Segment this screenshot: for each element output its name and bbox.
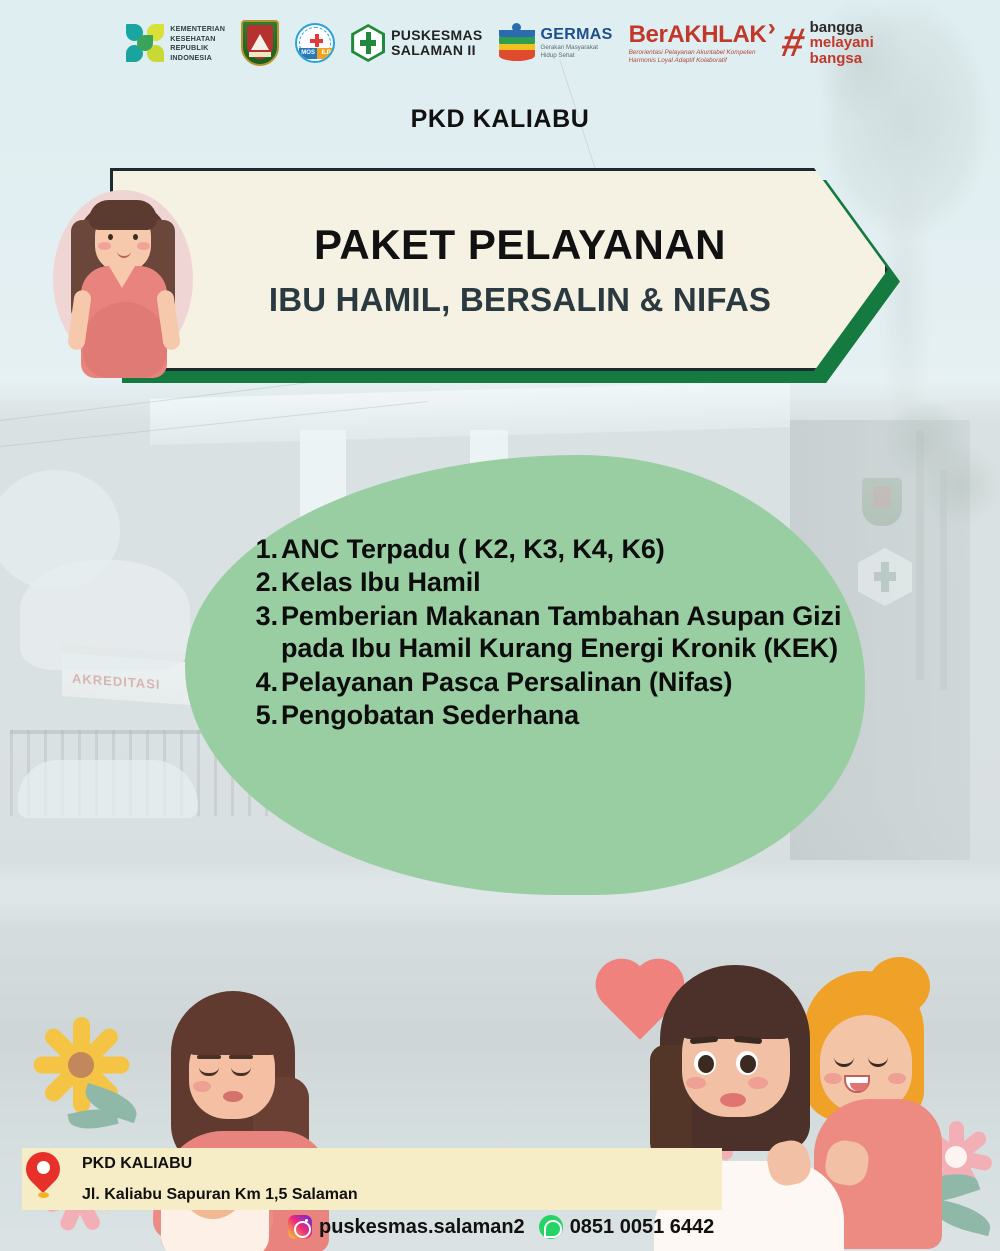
mos-badge: MOS bbox=[299, 48, 317, 59]
berakhlak-sub-2: Harmonis Loyal Adaptif Kolaboratif bbox=[629, 57, 767, 65]
list-item-label: ANC Terpadu ( K2, K3, K4, K6) bbox=[281, 533, 885, 565]
whatsapp-icon[interactable] bbox=[539, 1215, 563, 1239]
list-item: 2. Kelas Ibu Hamil bbox=[245, 566, 885, 598]
page-title: PKD KALIABU bbox=[0, 105, 1000, 134]
bangga-word-3: bangsa bbox=[810, 51, 874, 67]
footer-facility-name: PKD KALIABU bbox=[82, 1155, 192, 1173]
kemenkes-line-2: KESEHATAN bbox=[170, 34, 225, 44]
puskesmas-line-2: SALAMAN II bbox=[391, 43, 482, 58]
germas-sub-1: Gerakan Masyarakat bbox=[541, 44, 613, 52]
whatsapp-number[interactable]: 0851 0051 6442 bbox=[539, 1215, 715, 1239]
puskesmas-line-1: PUSKESMAS bbox=[391, 28, 482, 43]
germas-sub-2: Hidup Sehat bbox=[541, 52, 613, 60]
pregnant-woman-illustration bbox=[47, 186, 199, 386]
berakhlak-sub-1: Berorientasi Pelayanan Akuntabel Kompete… bbox=[629, 49, 767, 57]
hero-title-line-2: IBU HAMIL, BERSALIN & NIFAS bbox=[269, 281, 771, 319]
kemenkes-mark-icon bbox=[126, 24, 164, 62]
puskesmas-hex-cross-icon bbox=[351, 24, 385, 62]
hashtag-icon: # bbox=[779, 27, 807, 59]
mos-ilp-logo: MOS ILP bbox=[295, 23, 335, 63]
list-item: 3. Pemberian Makanan Tambahan Asupan Giz… bbox=[245, 600, 885, 665]
location-pin-icon bbox=[26, 1152, 60, 1202]
medical-cross-icon bbox=[310, 34, 323, 47]
list-item-number: 3. bbox=[245, 600, 281, 632]
hero-title-line-1: PAKET PELAYANAN bbox=[314, 221, 726, 269]
list-item-number: 2. bbox=[245, 566, 281, 598]
germas-logo-text: GERMAS Gerakan Masyarakat Hidup Sehat bbox=[541, 26, 613, 60]
poster-canvas: KEMENTERIAN KESEHATAN REPUBLIK INDONESIA… bbox=[0, 0, 1000, 1251]
mother-and-baby-illustration bbox=[35, 985, 365, 1251]
germas-title: GERMAS bbox=[541, 26, 613, 44]
list-item-label: Pemberian Makanan Tambahan Asupan Gizi p… bbox=[281, 600, 885, 665]
puskesmas-logo-text: PUSKESMAS SALAMAN II bbox=[391, 28, 482, 58]
bangga-logo-text: bangga melayani bangsa bbox=[810, 20, 874, 67]
list-item-number: 1. bbox=[245, 533, 281, 565]
mother-baby-figure bbox=[127, 991, 327, 1249]
kemenkes-line-4: INDONESIA bbox=[170, 53, 225, 63]
services-list: 1. ANC Terpadu ( K2, K3, K4, K6) 2. Kela… bbox=[245, 533, 885, 732]
instagram-handle-text: puskesmas.salaman2 bbox=[319, 1216, 525, 1239]
logo-strip: KEMENTERIAN KESEHATAN REPUBLIK INDONESIA… bbox=[0, 8, 1000, 78]
kemenkes-line-1: KEMENTERIAN bbox=[170, 24, 225, 34]
kemenkes-line-3: REPUBLIK bbox=[170, 43, 225, 53]
whatsapp-number-text: 0851 0051 6442 bbox=[570, 1216, 715, 1239]
puskesmas-logo: PUSKESMAS SALAMAN II bbox=[351, 24, 482, 62]
berakhlak-title: BerAKHLAK› bbox=[629, 21, 767, 49]
hero-banner: PAKET PELAYANAN IBU HAMIL, BERSALIN & NI… bbox=[110, 168, 900, 383]
list-item: 4. Pelayanan Pasca Persalinan (Nifas) bbox=[245, 666, 885, 698]
instagram-icon[interactable] bbox=[288, 1215, 312, 1239]
list-item-label: Pengobatan Sederhana bbox=[281, 699, 885, 731]
bangga-word-1: bangga bbox=[810, 20, 874, 36]
ilp-badge: ILP bbox=[317, 48, 335, 59]
berakhlak-logo: BerAKHLAK› Berorientasi Pelayanan Akunta… bbox=[629, 21, 767, 66]
hero-banner-card: PAKET PELAYANAN IBU HAMIL, BERSALIN & NI… bbox=[110, 168, 888, 371]
social-links: puskesmas.salaman2 0851 0051 6442 bbox=[288, 1215, 714, 1239]
list-item-label: Kelas Ibu Hamil bbox=[281, 566, 885, 598]
germas-figure-icon bbox=[499, 23, 535, 63]
berakhlak-tick-icon: › bbox=[768, 14, 776, 42]
kemenkes-logo-text: KEMENTERIAN KESEHATAN REPUBLIK INDONESIA bbox=[170, 24, 225, 62]
bangga-word-2: melayani bbox=[810, 35, 874, 51]
list-item-number: 5. bbox=[245, 699, 281, 731]
list-item: 5. Pengobatan Sederhana bbox=[245, 699, 885, 731]
footer-address: Jl. Kaliabu Sapuran Km 1,5 Salaman bbox=[82, 1186, 358, 1204]
kabupaten-crest-logo bbox=[241, 20, 279, 66]
germas-logo: GERMAS Gerakan Masyarakat Hidup Sehat bbox=[499, 23, 613, 63]
list-item: 1. ANC Terpadu ( K2, K3, K4, K6) bbox=[245, 533, 885, 565]
instagram-handle[interactable]: puskesmas.salaman2 bbox=[288, 1215, 525, 1239]
list-item-number: 4. bbox=[245, 666, 281, 698]
bangga-melayani-bangsa-logo: # bangga melayani bangsa bbox=[782, 20, 873, 67]
list-item-label: Pelayanan Pasca Persalinan (Nifas) bbox=[281, 666, 885, 698]
kemenkes-logo: KEMENTERIAN KESEHATAN REPUBLIK INDONESIA bbox=[126, 24, 225, 62]
